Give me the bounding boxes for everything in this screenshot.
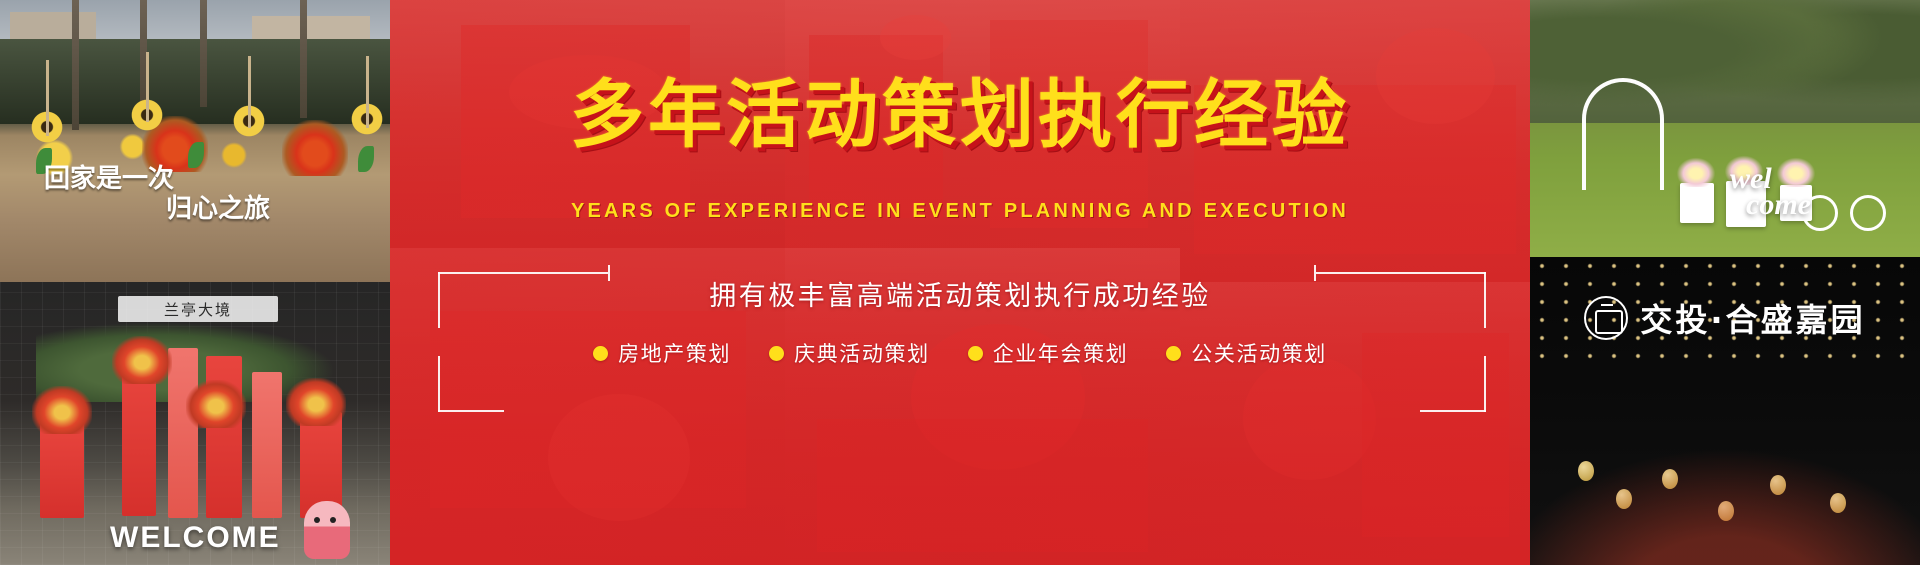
banner-content: 多年活动策划执行经验 YEARS OF EXPERIENCE IN EVENT … [390, 0, 1530, 565]
company-emblem-icon [1584, 296, 1628, 340]
sign-char: 归心之旅 [166, 196, 270, 222]
flower-posy [1676, 157, 1716, 187]
flower-arrangement [186, 380, 246, 428]
banner-headline: 多年活动策划执行经验 [390, 78, 1530, 152]
tree-trunk [72, 0, 79, 130]
flower-arrangement [286, 378, 346, 426]
decorative-bicycle [1802, 181, 1886, 231]
bullet-dot-icon [1166, 346, 1181, 361]
service-item-annual-meeting[interactable]: 企业年会策划 [968, 338, 1129, 368]
company-logo: 交投·合盛嘉园 [1530, 295, 1920, 341]
bullet-dot-icon [769, 346, 784, 361]
flower-stem [146, 52, 149, 122]
banner-subheadline: YEARS OF EXPERIENCE IN EVENT PLANNING AN… [390, 200, 1530, 223]
service-item-real-estate[interactable]: 房地产策划 [593, 338, 731, 368]
photo-red-arch-entrance-display: 兰亭大境 WELCOME [0, 282, 390, 565]
flower-arrangement [32, 386, 92, 434]
stage-glow [1530, 448, 1920, 565]
company-logo-text: 交投·合盛嘉园 [1640, 295, 1865, 341]
service-label: 企业年会策划 [993, 338, 1129, 368]
tree-trunk [300, 0, 307, 118]
bullet-dot-icon [968, 346, 983, 361]
photo-sunflower-garden-display: 回家是一次 归心之旅 [0, 0, 390, 282]
photo-night-logo-wall: 交投·合盛嘉园 [1530, 257, 1920, 565]
banner-tagline: 拥有极丰富高端活动策划执行成功经验 [390, 274, 1530, 313]
service-list: 房地产策划 庆典活动策划 企业年会策划 公关活动策划 [390, 338, 1530, 368]
flower-stem [46, 60, 49, 136]
service-item-celebration[interactable]: 庆典活动策划 [769, 338, 930, 368]
event-planning-banner: 回家是一次 归心之旅 兰亭大境 WELCOME [0, 0, 1920, 565]
flower-bouquet [282, 120, 348, 176]
service-label: 公关活动策划 [1191, 338, 1327, 368]
garden-sign-line2: 归心之旅 [166, 196, 270, 222]
mascot-figure [304, 501, 350, 559]
white-arch [1582, 78, 1664, 190]
display-pillar [40, 422, 84, 518]
display-pillar [168, 348, 198, 518]
welcome-line-2: come [1730, 192, 1811, 218]
tree-trunk [200, 0, 207, 107]
flower-arrangement [112, 336, 172, 384]
flower-stem [366, 56, 369, 128]
white-gift-box [1680, 183, 1714, 223]
service-label: 房地产策划 [618, 338, 731, 368]
plaque-text: 兰亭大境 [164, 299, 232, 320]
garden-sign-line1: 回家是一次 [44, 166, 174, 192]
bullet-dot-icon [593, 346, 608, 361]
display-pillar [122, 366, 156, 516]
sign-char: 回家是一次 [44, 166, 174, 192]
photo-white-garden-welcome-display: wel come [1530, 0, 1920, 257]
welcome-script-text: wel come [1730, 166, 1811, 218]
property-plaque: 兰亭大境 [118, 296, 278, 322]
welcome-sign-text: WELCOME [110, 521, 281, 555]
leaf [358, 146, 374, 172]
flower-stem [248, 56, 251, 128]
display-pillar [252, 372, 282, 518]
service-label: 庆典活动策划 [794, 338, 930, 368]
service-item-public-relations[interactable]: 公关活动策划 [1166, 338, 1327, 368]
